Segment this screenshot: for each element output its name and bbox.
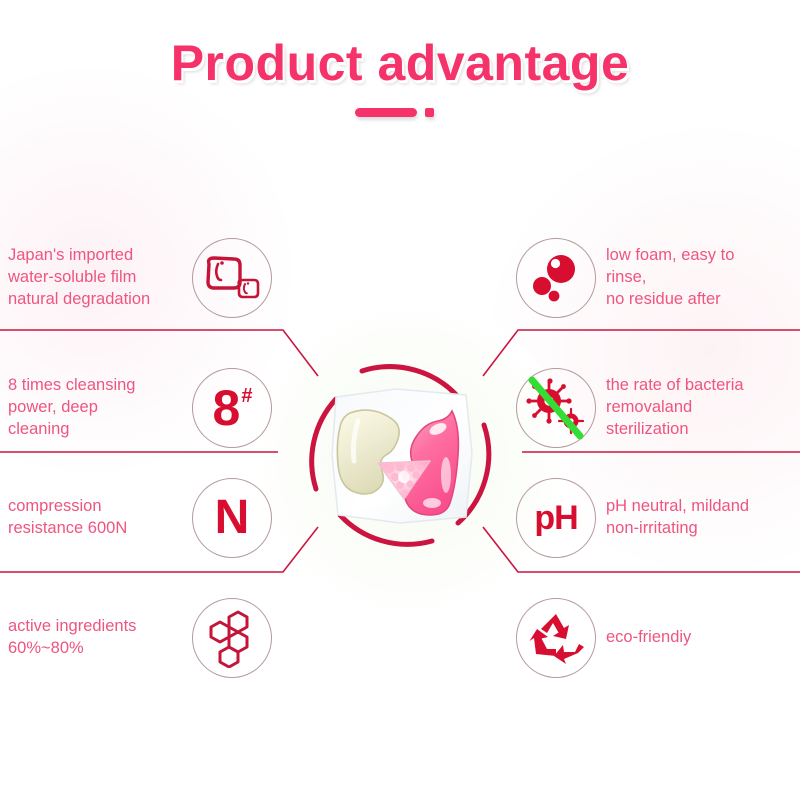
feature-left-2[interactable]: 8 times cleansing power, deep cleaning 8… bbox=[8, 368, 272, 448]
feature-right-4[interactable]: eco-friendiy bbox=[516, 598, 794, 678]
feature-right-1[interactable]: low foam, easy to rinse, no residue afte… bbox=[516, 238, 794, 318]
feature-right-3[interactable]: pH pH neutral, mildand non-irritating bbox=[516, 478, 794, 558]
number-8-icon: 8# bbox=[192, 368, 272, 448]
letter-n-glyph: N bbox=[215, 494, 250, 542]
feature-left-1-label: Japan's imported water-soluble film natu… bbox=[8, 245, 186, 310]
feature-right-4-label: eco-friendiy bbox=[606, 627, 794, 649]
feature-right-2-label: the rate of bacteria removaland steriliz… bbox=[606, 375, 794, 440]
feature-right-1-label: low foam, easy to rinse, no residue afte… bbox=[606, 245, 794, 310]
number-8-superscript: # bbox=[241, 386, 252, 406]
anti-bacteria-icon bbox=[516, 368, 596, 448]
detergent-pod bbox=[326, 383, 476, 528]
honeycomb-molecule-icon bbox=[192, 598, 272, 678]
feature-left-2-label: 8 times cleansing power, deep cleaning bbox=[8, 375, 186, 440]
feature-left-3[interactable]: compression resistance 600N N bbox=[8, 478, 272, 558]
feature-left-3-label: compression resistance 600N bbox=[8, 496, 186, 540]
product-image bbox=[300, 355, 500, 555]
ph-neutral-icon: pH bbox=[516, 478, 596, 558]
letter-n-icon: N bbox=[192, 478, 272, 558]
feature-left-4-label: active ingredients 60%~80% bbox=[8, 616, 186, 660]
foam-bubbles-icon bbox=[516, 238, 596, 318]
feature-left-1[interactable]: Japan's imported water-soluble film natu… bbox=[8, 238, 272, 318]
feature-right-2[interactable]: the rate of bacteria removaland steriliz… bbox=[516, 368, 794, 448]
feature-left-4[interactable]: active ingredients 60%~80% bbox=[8, 598, 272, 678]
water-soluble-film-icon bbox=[192, 238, 272, 318]
feature-right-3-label: pH neutral, mildand non-irritating bbox=[606, 496, 794, 540]
number-8-glyph: 8 bbox=[213, 383, 241, 433]
recycle-icon bbox=[516, 598, 596, 678]
ph-glyph: pH bbox=[534, 501, 577, 535]
